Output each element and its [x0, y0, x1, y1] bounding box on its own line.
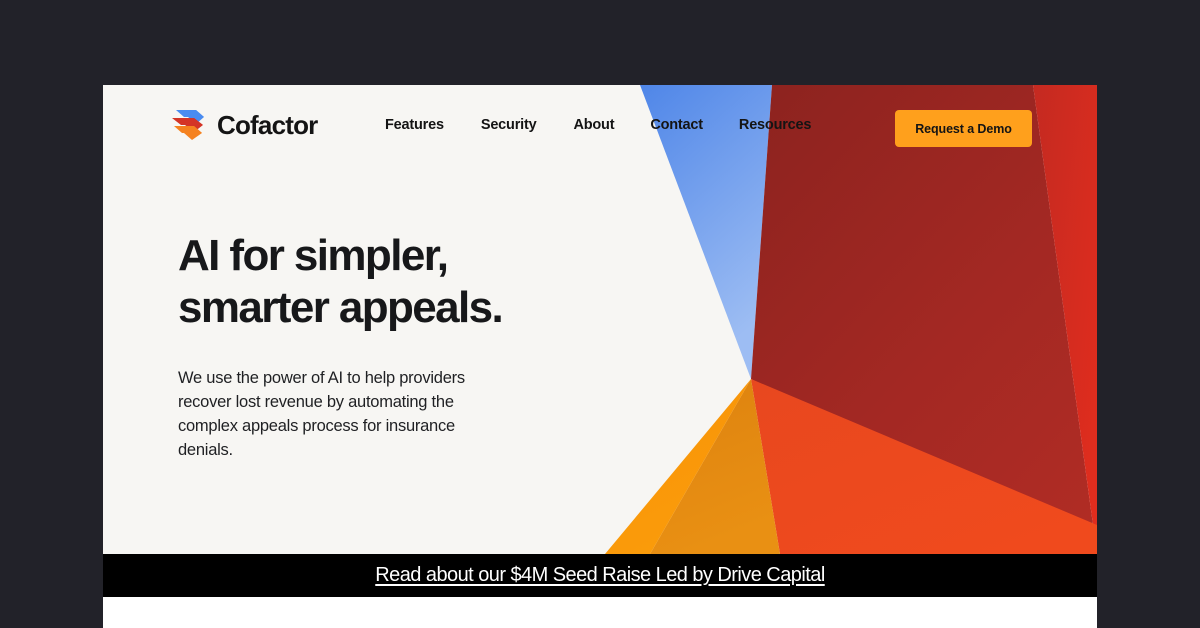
- nav-item-contact[interactable]: Contact: [650, 118, 703, 133]
- brand-wordmark: Cofactor: [217, 112, 318, 138]
- nav-item-features[interactable]: Features: [385, 118, 444, 133]
- site-navigation: Cofactor Features Security About Contact…: [103, 85, 1097, 185]
- hero-subcopy: We use the power of AI to help providers…: [178, 366, 468, 462]
- announcement-bar: Read about our $4M Seed Raise Led by Dri…: [103, 554, 1097, 597]
- nav-item-resources[interactable]: Resources: [739, 118, 811, 133]
- hero-copy: AI for simpler, smarter appeals. We use …: [178, 230, 608, 462]
- screenshot-root: Cofactor Features Security About Contact…: [0, 0, 1200, 628]
- browser-viewport: Cofactor Features Security About Contact…: [103, 85, 1097, 628]
- brand-logo[interactable]: Cofactor: [170, 109, 318, 141]
- request-demo-button[interactable]: Request a Demo: [895, 110, 1032, 147]
- cofactor-chevron-logo-icon: [170, 109, 208, 141]
- nav-item-security[interactable]: Security: [481, 118, 537, 133]
- nav-links: Features Security About Contact Resource…: [385, 118, 811, 133]
- nav-item-about[interactable]: About: [573, 118, 614, 133]
- hero-section: Cofactor Features Security About Contact…: [103, 85, 1097, 554]
- below-fold-section: [103, 597, 1097, 628]
- hero-headline: AI for simpler, smarter appeals.: [178, 230, 608, 334]
- announcement-link[interactable]: Read about our $4M Seed Raise Led by Dri…: [375, 564, 824, 587]
